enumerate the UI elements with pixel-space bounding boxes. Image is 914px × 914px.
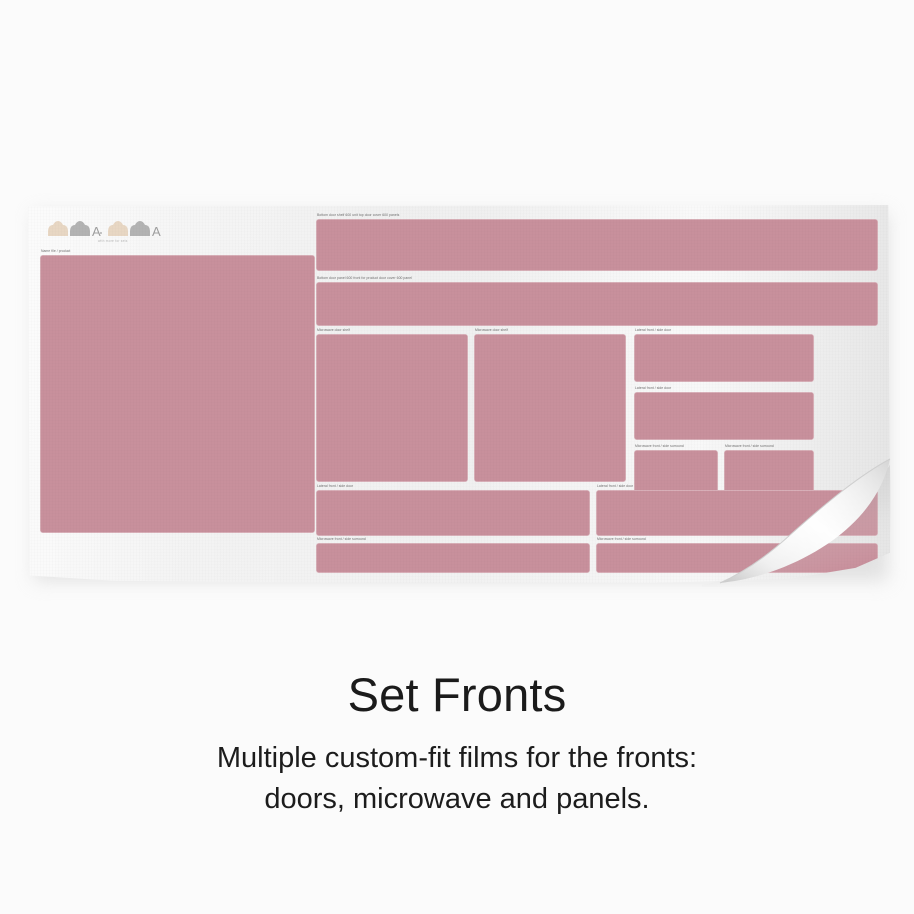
logo-mark-right: A — [108, 221, 161, 239]
panel-right-wide-2: Lateral front / side door — [634, 392, 814, 440]
caption-subtitle-line-2: doors, microwave and panels. — [0, 779, 914, 820]
brand-logo: A A with more for sets — [46, 213, 166, 247]
caption-subtitle-line-1: Multiple custom-fit films for the fronts… — [0, 738, 914, 779]
panel-banner-top: Bottom door shelf 600 unit top door cove… — [316, 219, 878, 271]
panel-label: Microwave front / side surround — [317, 537, 366, 542]
panel-label: Microwave front / side surround — [635, 444, 684, 449]
panel-big-left: Name file / product — [40, 255, 315, 533]
logo-tagline: with more for sets — [98, 239, 128, 243]
panel-right-wide-1: Lateral front / side door — [634, 334, 814, 382]
sheet-surface: A A with more for sets Name file / produ… — [28, 205, 890, 583]
panel-label: Lateral front / side door — [597, 484, 633, 489]
caption-title: Set Fronts — [0, 668, 914, 722]
panel-banner-second: Bottom door panel 600 front for product … — [316, 282, 878, 326]
panel-bottom-row2-right: Microwave front / side surround — [596, 543, 878, 573]
panel-label: Lateral front / side door — [635, 386, 671, 391]
panel-label: Bottom door shelf 600 unit top door cove… — [317, 213, 399, 218]
film-template-sheet: A A with more for sets Name file / produ… — [28, 205, 890, 583]
caption-block: Set Fronts Multiple custom-fit films for… — [0, 668, 914, 820]
panel-label: Name file / product — [41, 249, 70, 254]
panel-label: Microwave front / side surround — [725, 444, 774, 449]
panel-mid-door-right: Microwave door shelf — [474, 334, 626, 482]
logo-mark-left: A — [48, 221, 102, 239]
panel-label: Lateral front / side door — [635, 328, 671, 333]
svg-text:A: A — [152, 224, 161, 239]
panel-bottom-row2-left: Microwave front / side surround — [316, 543, 590, 573]
panel-label: Microwave front / side surround — [597, 537, 646, 542]
svg-text:A: A — [92, 224, 101, 239]
panel-mid-door-left: Microwave door shelf — [316, 334, 468, 482]
panel-label: Lateral front / side door — [317, 484, 353, 489]
panel-bottom-row1-right: Lateral front / side door — [596, 490, 878, 536]
product-image-canvas: A A with more for sets Name file / produ… — [0, 0, 914, 914]
panel-label: Microwave door shelf — [475, 328, 508, 333]
panel-label: Bottom door panel 600 front for product … — [317, 276, 412, 281]
caption-subtitle: Multiple custom-fit films for the fronts… — [0, 738, 914, 820]
panel-bottom-row1-left: Lateral front / side door — [316, 490, 590, 536]
panel-label: Microwave door shelf — [317, 328, 350, 333]
